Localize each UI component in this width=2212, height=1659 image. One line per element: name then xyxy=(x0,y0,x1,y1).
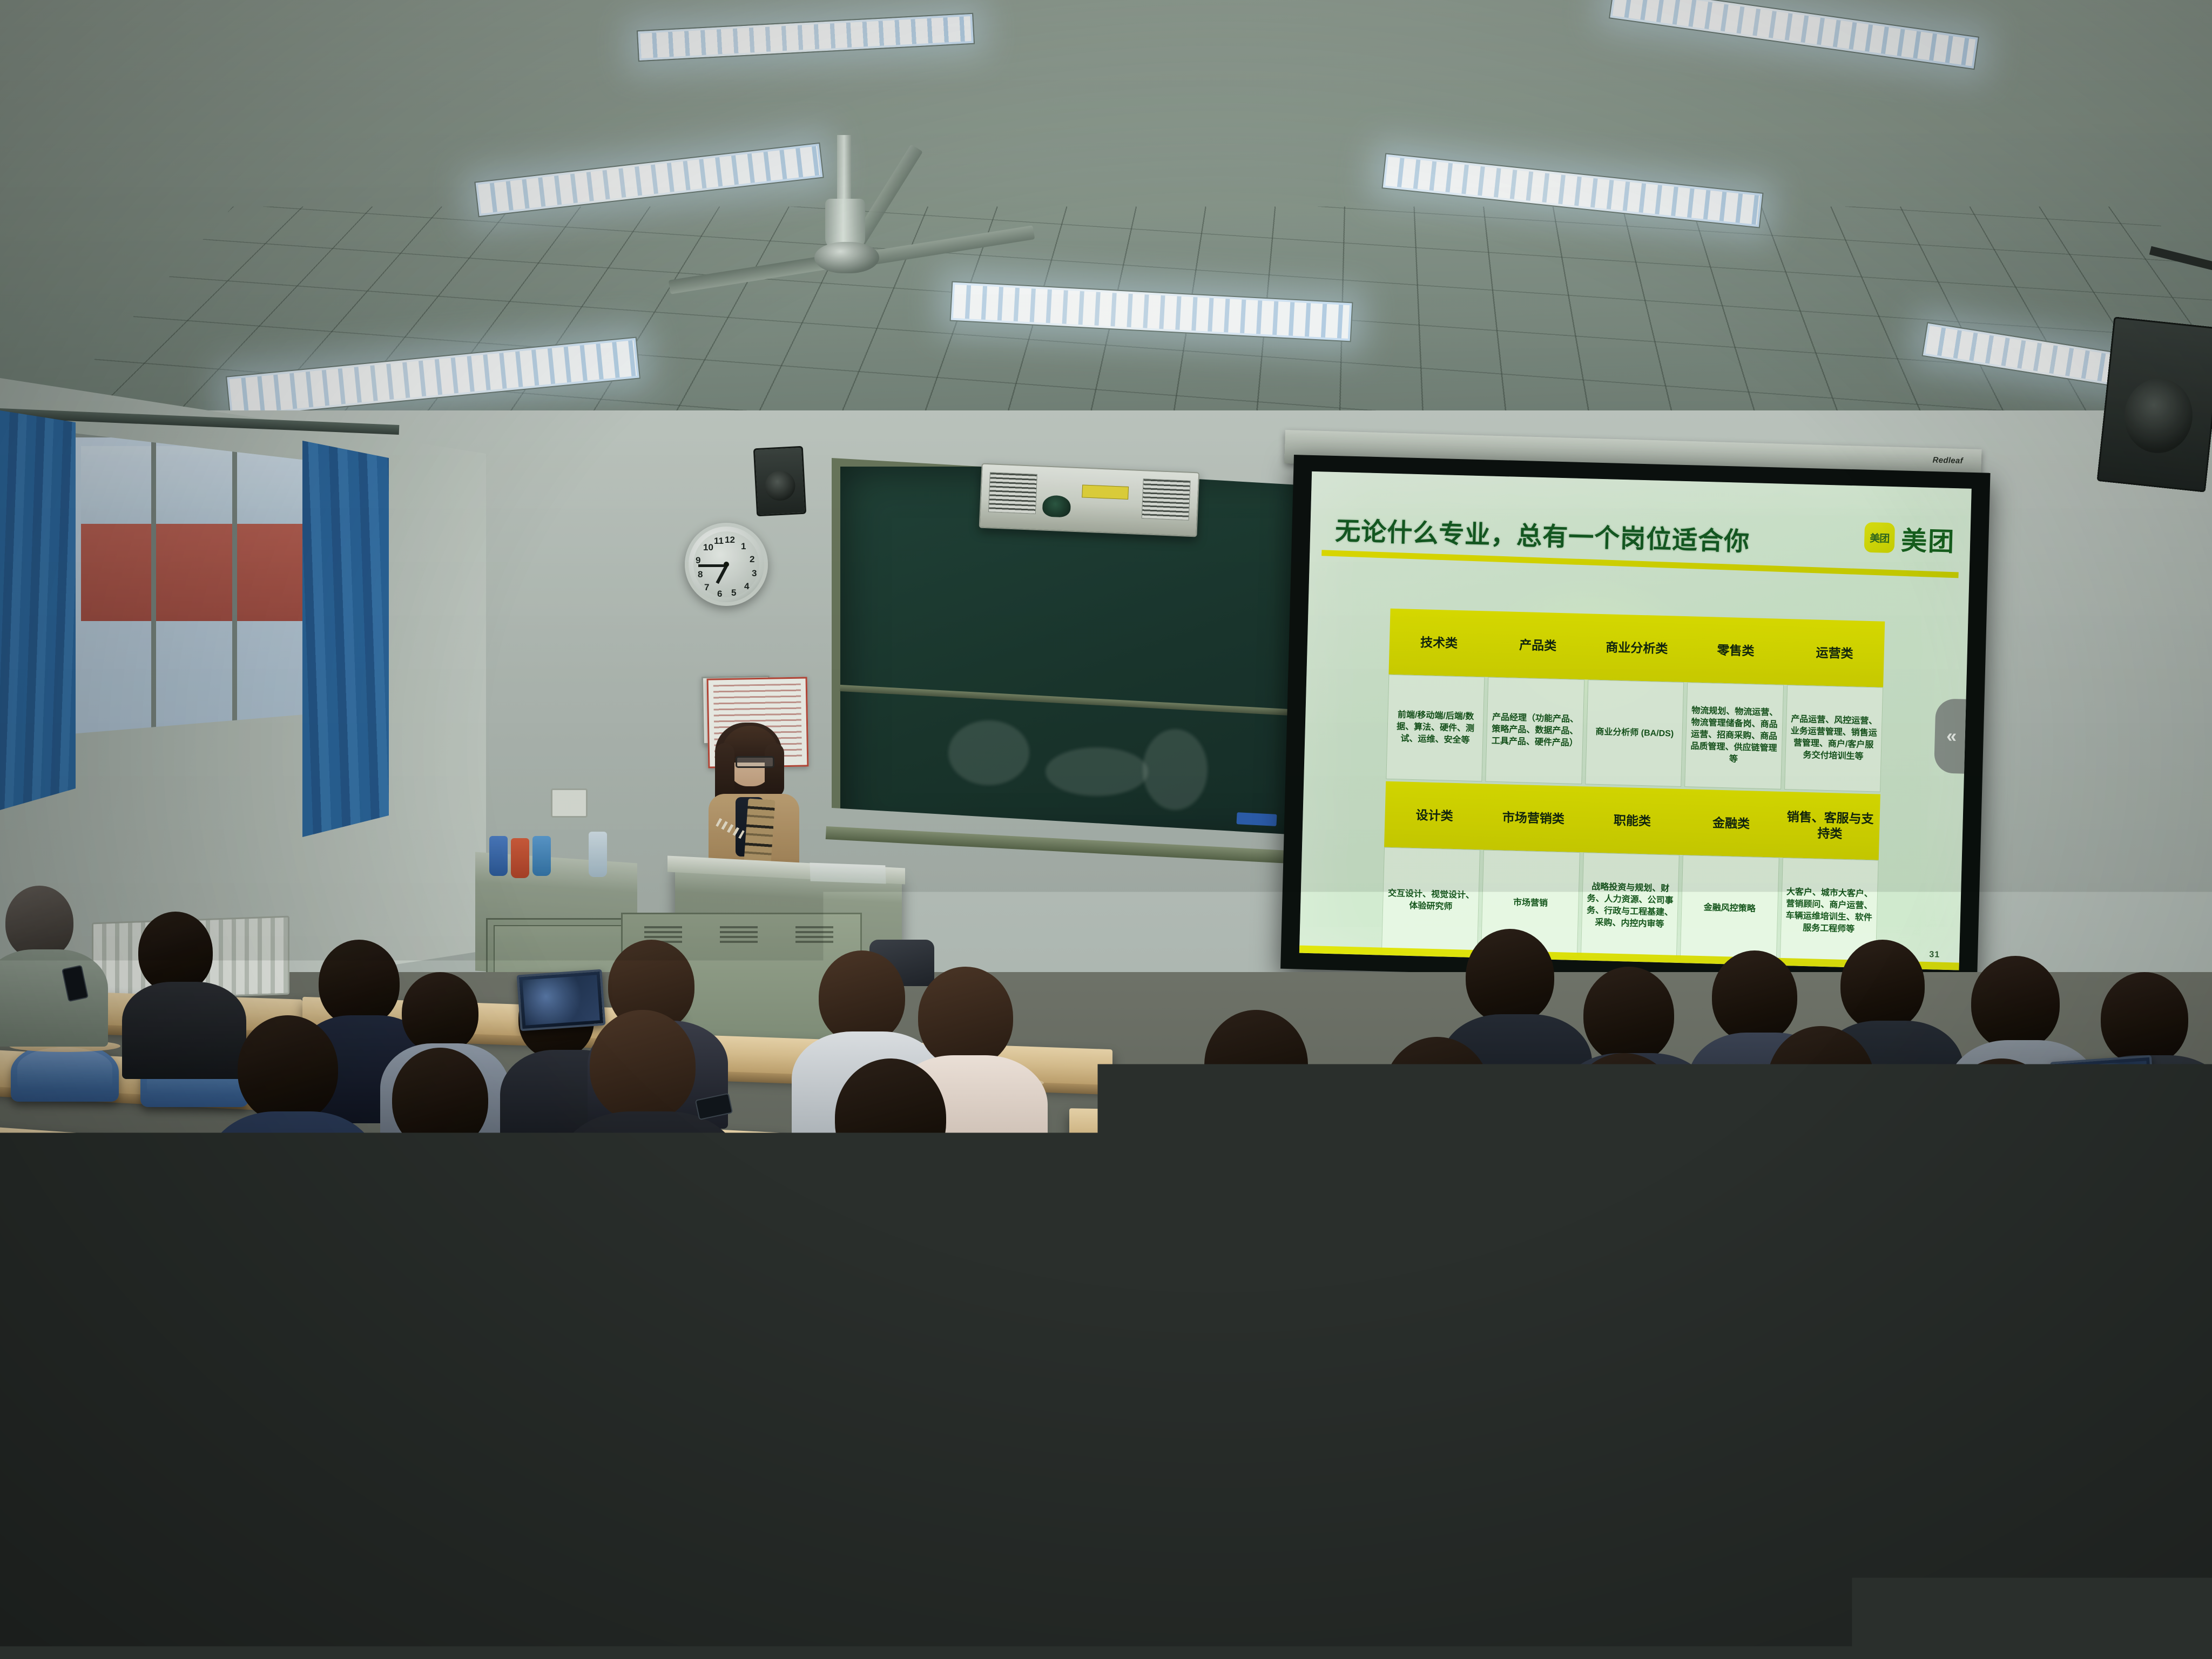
audience-member xyxy=(1183,1010,1334,1199)
person-torso xyxy=(0,949,108,1047)
clock-numeral: 2 xyxy=(750,554,754,565)
column-header: 职能类 xyxy=(1582,786,1682,855)
audience-member xyxy=(1998,1501,2212,1659)
person-torso xyxy=(1172,1110,1355,1256)
projector-vent xyxy=(1142,478,1191,521)
seat-rim xyxy=(0,1154,126,1165)
clock-minute-hand xyxy=(698,564,726,567)
audience-member xyxy=(1744,1026,1901,1220)
clock-numeral: 12 xyxy=(725,535,735,545)
table-cell: 金融风控策略 xyxy=(1680,855,1779,962)
person-torso xyxy=(1399,1604,1744,1659)
water-bottle xyxy=(489,836,508,876)
person-head xyxy=(238,1015,338,1122)
bottle-cap xyxy=(1935,1294,1957,1311)
clock-numeral: 11 xyxy=(714,536,724,547)
person-head xyxy=(1384,1037,1491,1150)
presentation-slide: 无论什么专业，总有一个岗位适合你 美团 美团 技术类 产品类 商业分析类 零售类… xyxy=(1299,471,1972,970)
auditorium-seat[interactable] xyxy=(11,1042,119,1102)
projector-label xyxy=(1082,484,1129,500)
column-header: 销售、客服与支持类 xyxy=(1780,792,1880,860)
person-head xyxy=(392,1048,488,1150)
person-head xyxy=(319,940,400,1026)
person-head xyxy=(5,886,73,959)
person-head xyxy=(918,967,1013,1067)
chalk-box xyxy=(1236,812,1277,826)
ceiling-light-fixture xyxy=(1609,0,1979,70)
person-head xyxy=(1583,967,1674,1063)
wall-speaker xyxy=(753,446,806,517)
column-header: 产品类 xyxy=(1488,611,1588,680)
ceiling-fan xyxy=(745,135,1048,275)
screen-brand-label: Redleaf xyxy=(1932,455,1963,466)
window-sky-pane xyxy=(81,446,308,527)
table-header-row-1: 技术类 产品类 商业分析类 零售类 运营类 xyxy=(1388,609,1885,687)
clock-numeral: 3 xyxy=(752,568,757,579)
clock-numeral: 7 xyxy=(704,582,709,593)
water-bottle[interactable] xyxy=(1928,1307,1965,1407)
table-cell: 物流规划、物流运营、物流管理储备岗、商品运营、招商采购、商品品质管理、供应链管理… xyxy=(1684,682,1783,790)
clock-numeral: 10 xyxy=(703,542,713,553)
presenter-glasses xyxy=(736,756,774,768)
person-torso xyxy=(184,1588,508,1659)
table-cell: 商业分析师 (BA/DS) xyxy=(1585,679,1684,787)
person-torso xyxy=(557,1111,741,1252)
table-cell: 产品经理（功能产品、策略产品、数据产品、工具产品、硬件产品） xyxy=(1486,677,1584,785)
chalk-smudge xyxy=(1046,747,1148,796)
person-head xyxy=(402,972,478,1053)
table-cell: 产品运营、风控运营、业务运营管理、销售运营管理、商户/客户服务交付培训生等 xyxy=(1784,685,1883,792)
job-categories-table: 技术类 产品类 商业分析类 零售类 运营类 前端/移动端/后端/数据、算法、硬件… xyxy=(1381,609,1885,965)
person-head xyxy=(1946,1058,2056,1175)
water-bottle xyxy=(532,836,551,876)
audience-member xyxy=(205,1415,486,1659)
chalk-smudge xyxy=(948,720,1029,785)
clock-numeral: 4 xyxy=(744,581,749,592)
projector-lens xyxy=(1042,495,1071,517)
locker-vent xyxy=(795,926,833,945)
audience-member xyxy=(799,1220,1026,1512)
classroom-photo-scene: 12 1 2 3 4 5 6 7 8 9 10 11 xyxy=(0,0,2212,1659)
thermos-bottle[interactable] xyxy=(1334,1118,1375,1201)
fan-rod xyxy=(837,135,851,203)
presenter-hair-side xyxy=(765,743,784,797)
window-mullion xyxy=(232,437,237,740)
person-head xyxy=(313,1188,460,1345)
column-header: 运营类 xyxy=(1784,619,1885,687)
auditorium-seat[interactable] xyxy=(0,1301,140,1377)
person-head xyxy=(1971,956,2060,1050)
audience-member xyxy=(0,886,108,1026)
audience-member xyxy=(605,1469,940,1659)
fan-motor xyxy=(825,199,865,248)
window-mullion xyxy=(151,437,156,740)
clock-numeral: 6 xyxy=(717,589,722,599)
person-head xyxy=(834,1220,989,1386)
projector-vent xyxy=(988,472,1037,514)
fan-blade xyxy=(873,225,1035,265)
curtain-right xyxy=(302,427,389,837)
column-header: 商业分析类 xyxy=(1587,613,1687,682)
audience-member xyxy=(1923,1058,2085,1264)
handout-papers xyxy=(810,863,886,884)
water-bottle xyxy=(511,838,529,878)
table-cell: 战略投资与规划、财务、人力资源、公司事务、行政与工程基建、采购、内控内审等 xyxy=(1581,852,1680,960)
curtain-left xyxy=(0,410,76,810)
presenter xyxy=(696,718,809,880)
fan-hub xyxy=(814,242,879,273)
person-head xyxy=(819,950,905,1043)
person-head xyxy=(1466,929,1554,1024)
thermos-lid xyxy=(1339,1107,1370,1121)
clock-numeral: 8 xyxy=(698,569,703,580)
audience-member xyxy=(216,1015,362,1199)
person-head xyxy=(1204,1010,1308,1120)
window-building-pane xyxy=(81,524,308,621)
ceiling-projector xyxy=(979,463,1200,537)
clock-face: 12 1 2 3 4 5 6 7 8 9 10 11 xyxy=(693,531,759,597)
person-head xyxy=(1526,1188,1684,1357)
table-cell: 前端/移动端/后端/数据、算法、硬件、测试、运维、安全等 xyxy=(1386,675,1485,782)
clock-numeral: 5 xyxy=(731,588,736,598)
column-header: 市场营销类 xyxy=(1483,784,1583,852)
auditorium-seat[interactable] xyxy=(1220,1307,1361,1382)
meituan-logo: 美团 美团 xyxy=(1864,518,1955,558)
person-head xyxy=(835,1058,946,1177)
ceiling xyxy=(0,0,2212,475)
water-bottle xyxy=(589,832,607,877)
collapse-panel-button[interactable]: « xyxy=(1934,698,1970,774)
chalk-smudge xyxy=(1143,729,1208,810)
person-head xyxy=(1767,1026,1875,1141)
person-torso xyxy=(572,1631,972,1659)
wall-speaker xyxy=(2097,316,2212,492)
blackboard-divider xyxy=(840,685,1325,718)
locker-vent xyxy=(720,926,758,945)
wall-socket xyxy=(551,788,588,818)
column-header: 金融类 xyxy=(1681,789,1781,858)
wall-clock: 12 1 2 3 4 5 6 7 8 9 10 11 xyxy=(685,523,768,606)
auditorium-seat[interactable] xyxy=(0,1156,124,1224)
meituan-wordmark: 美团 xyxy=(1900,519,1955,558)
person-head xyxy=(1840,940,1925,1030)
window xyxy=(65,432,335,745)
slide-title: 无论什么专业，总有一个岗位适合你 xyxy=(1335,510,1751,558)
clock-numeral: 1 xyxy=(741,541,746,552)
column-header: 设计类 xyxy=(1384,781,1485,850)
person-head xyxy=(590,1010,696,1121)
person-head xyxy=(2101,972,2188,1065)
table-header-row-2: 设计类 市场营销类 职能类 金融类 销售、客服与支持类 xyxy=(1384,781,1880,860)
seat-rim xyxy=(1219,1305,1363,1317)
meituan-app-icon: 美团 xyxy=(1864,522,1895,553)
person-head xyxy=(248,1415,427,1604)
ceiling-light-fixture xyxy=(637,13,975,62)
person-head xyxy=(1568,1053,1680,1171)
clock-hour-hand xyxy=(716,565,727,584)
audience-member xyxy=(1426,1426,1717,1659)
column-header: 零售类 xyxy=(1685,616,1786,685)
projection-screen: 无论什么专业，总有一个岗位适合你 美团 美团 技术类 产品类 商业分析类 零售类… xyxy=(1280,455,1990,987)
column-header: 技术类 xyxy=(1388,609,1489,677)
person-head xyxy=(1472,1426,1659,1620)
person-head xyxy=(138,912,213,993)
table-body-row-1: 前端/移动端/后端/数据、算法、硬件、测试、运维、安全等 产品经理（功能产品、策… xyxy=(1386,675,1883,792)
person-head xyxy=(2020,1501,2193,1659)
clock-center-pin xyxy=(724,562,729,567)
seat-rim xyxy=(0,1299,142,1311)
